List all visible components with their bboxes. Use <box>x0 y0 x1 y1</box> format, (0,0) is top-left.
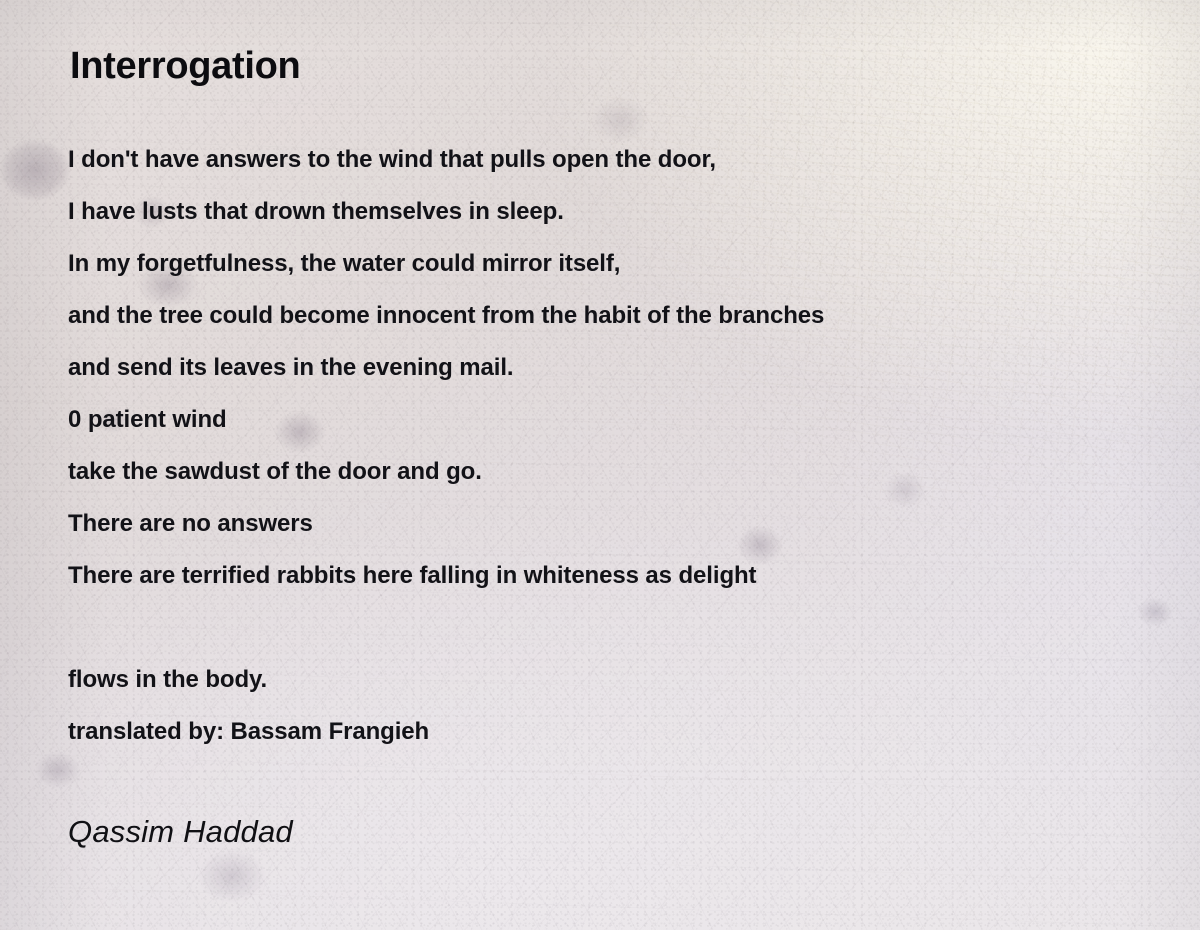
poem-content: Interrogation I don't have answers to th… <box>0 0 1200 850</box>
translator-credit: translated by: Bassam Frangieh <box>68 706 1200 758</box>
poem-line: 0 patient wind <box>68 394 1200 446</box>
poem-line: and send its leaves in the evening mail. <box>68 342 1200 394</box>
poem-line: There are terrified rabbits here falling… <box>68 550 1200 602</box>
poem-line: There are no answers <box>68 498 1200 550</box>
poem-line: flows in the body. <box>68 654 1200 706</box>
poem-line-blank <box>68 602 1200 654</box>
poem-line: take the sawdust of the door and go. <box>68 446 1200 498</box>
poem-line: and the tree could become innocent from … <box>68 290 1200 342</box>
poem-author: Qassim Haddad <box>68 814 1200 850</box>
poem-line: I have lusts that drown themselves in sl… <box>68 186 1200 238</box>
poem-card: Interrogation I don't have answers to th… <box>0 0 1200 930</box>
poem-body: I don't have answers to the wind that pu… <box>68 134 1200 758</box>
poem-line: In my forgetfulness, the water could mir… <box>68 238 1200 290</box>
poem-line: I don't have answers to the wind that pu… <box>68 134 1200 186</box>
poem-title: Interrogation <box>70 46 1200 88</box>
